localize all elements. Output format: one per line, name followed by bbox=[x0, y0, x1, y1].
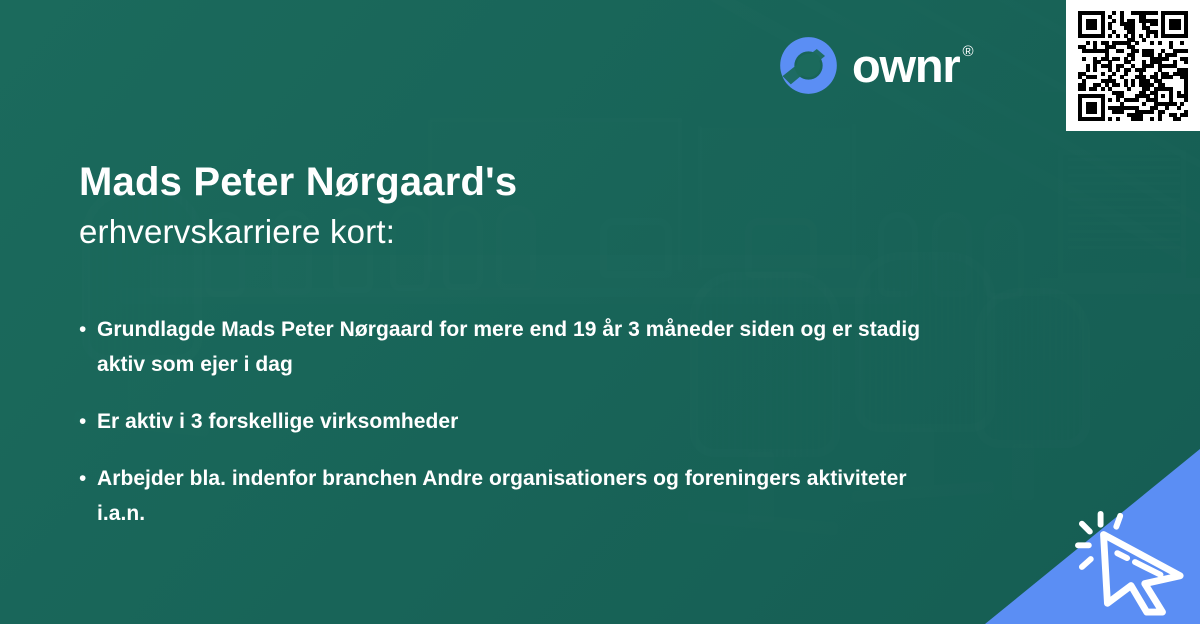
list-item-text: Grundlagde Mads Peter Nørgaard for mere … bbox=[97, 312, 959, 382]
list-item-text: Er aktiv i 3 forskellige virksomheder bbox=[97, 404, 458, 439]
title-line-primary: Mads Peter Nørgaard's bbox=[79, 158, 517, 206]
ownr-swirl-circle-icon bbox=[779, 36, 838, 95]
qr-code-panel[interactable] bbox=[1066, 0, 1200, 131]
registered-trademark-icon: ® bbox=[962, 40, 973, 64]
list-item-text: Arbejder bla. indenfor branchen Andre or… bbox=[97, 461, 959, 531]
career-facts-list: • Grundlagde Mads Peter Nørgaard for mer… bbox=[79, 312, 959, 553]
list-item: • Arbejder bla. indenfor branchen Andre … bbox=[79, 461, 959, 531]
qr-code-icon[interactable] bbox=[1078, 11, 1188, 121]
title-line-secondary: erhvervskarriere kort: bbox=[79, 210, 517, 254]
list-item: • Er aktiv i 3 forskellige virksomheder bbox=[79, 404, 959, 439]
list-item: • Grundlagde Mads Peter Nørgaard for mer… bbox=[79, 312, 959, 382]
bullet-marker-icon: • bbox=[79, 404, 97, 439]
bullet-marker-icon: • bbox=[79, 461, 97, 496]
ownr-logo[interactable]: ownr ® bbox=[779, 36, 974, 95]
ownr-wordmark: ownr bbox=[852, 40, 959, 92]
bullet-marker-icon: • bbox=[79, 312, 97, 347]
business-career-card: ownr ® Mads Peter Nørgaard's erhvervskar… bbox=[0, 0, 1200, 624]
page-title: Mads Peter Nørgaard's erhvervskarriere k… bbox=[79, 158, 517, 254]
